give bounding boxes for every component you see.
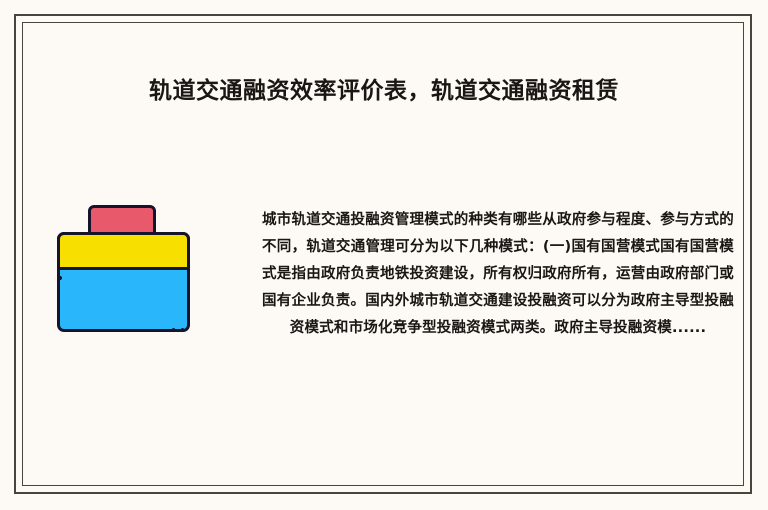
toolbox-dot-bottom-right-2-icon [181, 328, 184, 331]
article-body-text: 城市轨道交通投融资管理模式的种类有哪些从政府参与程度、参与方式的不同，轨道交通管… [262, 207, 734, 342]
toolbox-dot-bottom-right-1-icon [172, 328, 175, 331]
page-title: 轨道交通融资效率评价表，轨道交通融资租赁 [0, 74, 768, 108]
toolbox-dot-left-icon [58, 276, 62, 280]
toolbox-band-icon [57, 232, 190, 270]
page-root: 轨道交通融资效率评价表，轨道交通融资租赁 城市轨道交通投融资管理模式的种类有哪些… [0, 0, 768, 510]
toolbox-briefcase-illustration [50, 198, 200, 343]
